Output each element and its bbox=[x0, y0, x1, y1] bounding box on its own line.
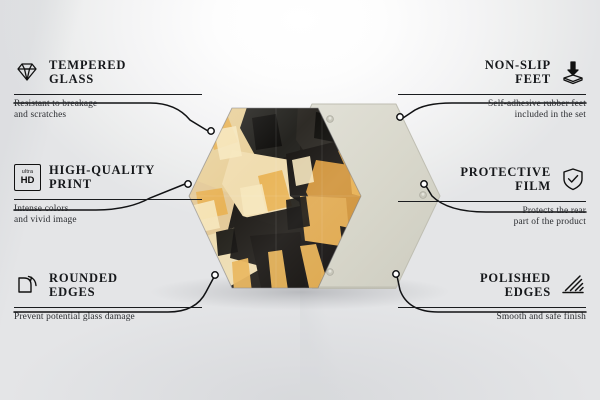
feature-title: NON-SLIPFEET bbox=[485, 58, 551, 87]
feature-header: TEMPEREDGLASS bbox=[14, 55, 202, 89]
feature-title: POLISHEDEDGES bbox=[480, 271, 551, 300]
rounded-corner-icon bbox=[14, 272, 40, 298]
feature-description: Intense colorsand vivid image bbox=[14, 204, 202, 227]
feature-protective-film: PROTECTIVEFILM Protects the rearpart of … bbox=[398, 162, 586, 229]
divider bbox=[398, 201, 586, 202]
shield-check-icon bbox=[560, 166, 586, 192]
divider bbox=[398, 94, 586, 95]
feature-header: POLISHEDEDGES bbox=[398, 268, 586, 302]
feature-description: Smooth and safe finish bbox=[398, 312, 586, 323]
feature-tempered-glass: TEMPEREDGLASS Resistant to breakageand s… bbox=[14, 55, 202, 122]
feature-polished-edges: POLISHEDEDGES Smooth and safe finish bbox=[398, 268, 586, 323]
feature-title: PROTECTIVEFILM bbox=[460, 165, 551, 194]
divider bbox=[14, 94, 202, 95]
divider bbox=[398, 307, 586, 308]
diamond-icon bbox=[14, 59, 40, 85]
feature-title: HIGH-QUALITYPRINT bbox=[49, 163, 155, 192]
feature-description: Prevent potential glass damage bbox=[14, 312, 202, 323]
press-down-pad-icon bbox=[560, 59, 586, 85]
feature-rounded-edges: ROUNDEDEDGES Prevent potential glass dam… bbox=[14, 268, 202, 323]
divider bbox=[14, 307, 202, 308]
divider bbox=[14, 199, 202, 200]
feature-description: Protects the rearpart of the product bbox=[398, 206, 586, 229]
ultra-hd-main-text: HD bbox=[21, 176, 35, 186]
feature-title: TEMPEREDGLASS bbox=[49, 58, 126, 87]
ultra-hd-badge-icon: ultra HD bbox=[14, 164, 40, 190]
feature-header: ROUNDEDEDGES bbox=[14, 268, 202, 302]
feature-header: PROTECTIVEFILM bbox=[398, 162, 586, 196]
feature-description: Self-adhesive rubber feetincluded in the… bbox=[398, 99, 586, 122]
feature-non-slip-feet: NON-SLIPFEET Self-adhesive rubber feetin… bbox=[398, 55, 586, 122]
feature-header: ultra HD HIGH-QUALITYPRINT bbox=[14, 160, 202, 194]
feature-title: ROUNDEDEDGES bbox=[49, 271, 118, 300]
feature-description: Resistant to breakageand scratches bbox=[14, 99, 202, 122]
feature-header: NON-SLIPFEET bbox=[398, 55, 586, 89]
infographic-canvas: TEMPEREDGLASS Resistant to breakageand s… bbox=[0, 0, 600, 400]
diagonal-hatch-icon bbox=[560, 272, 586, 298]
feature-high-quality-print: ultra HD HIGH-QUALITYPRINT Intense color… bbox=[14, 160, 202, 227]
